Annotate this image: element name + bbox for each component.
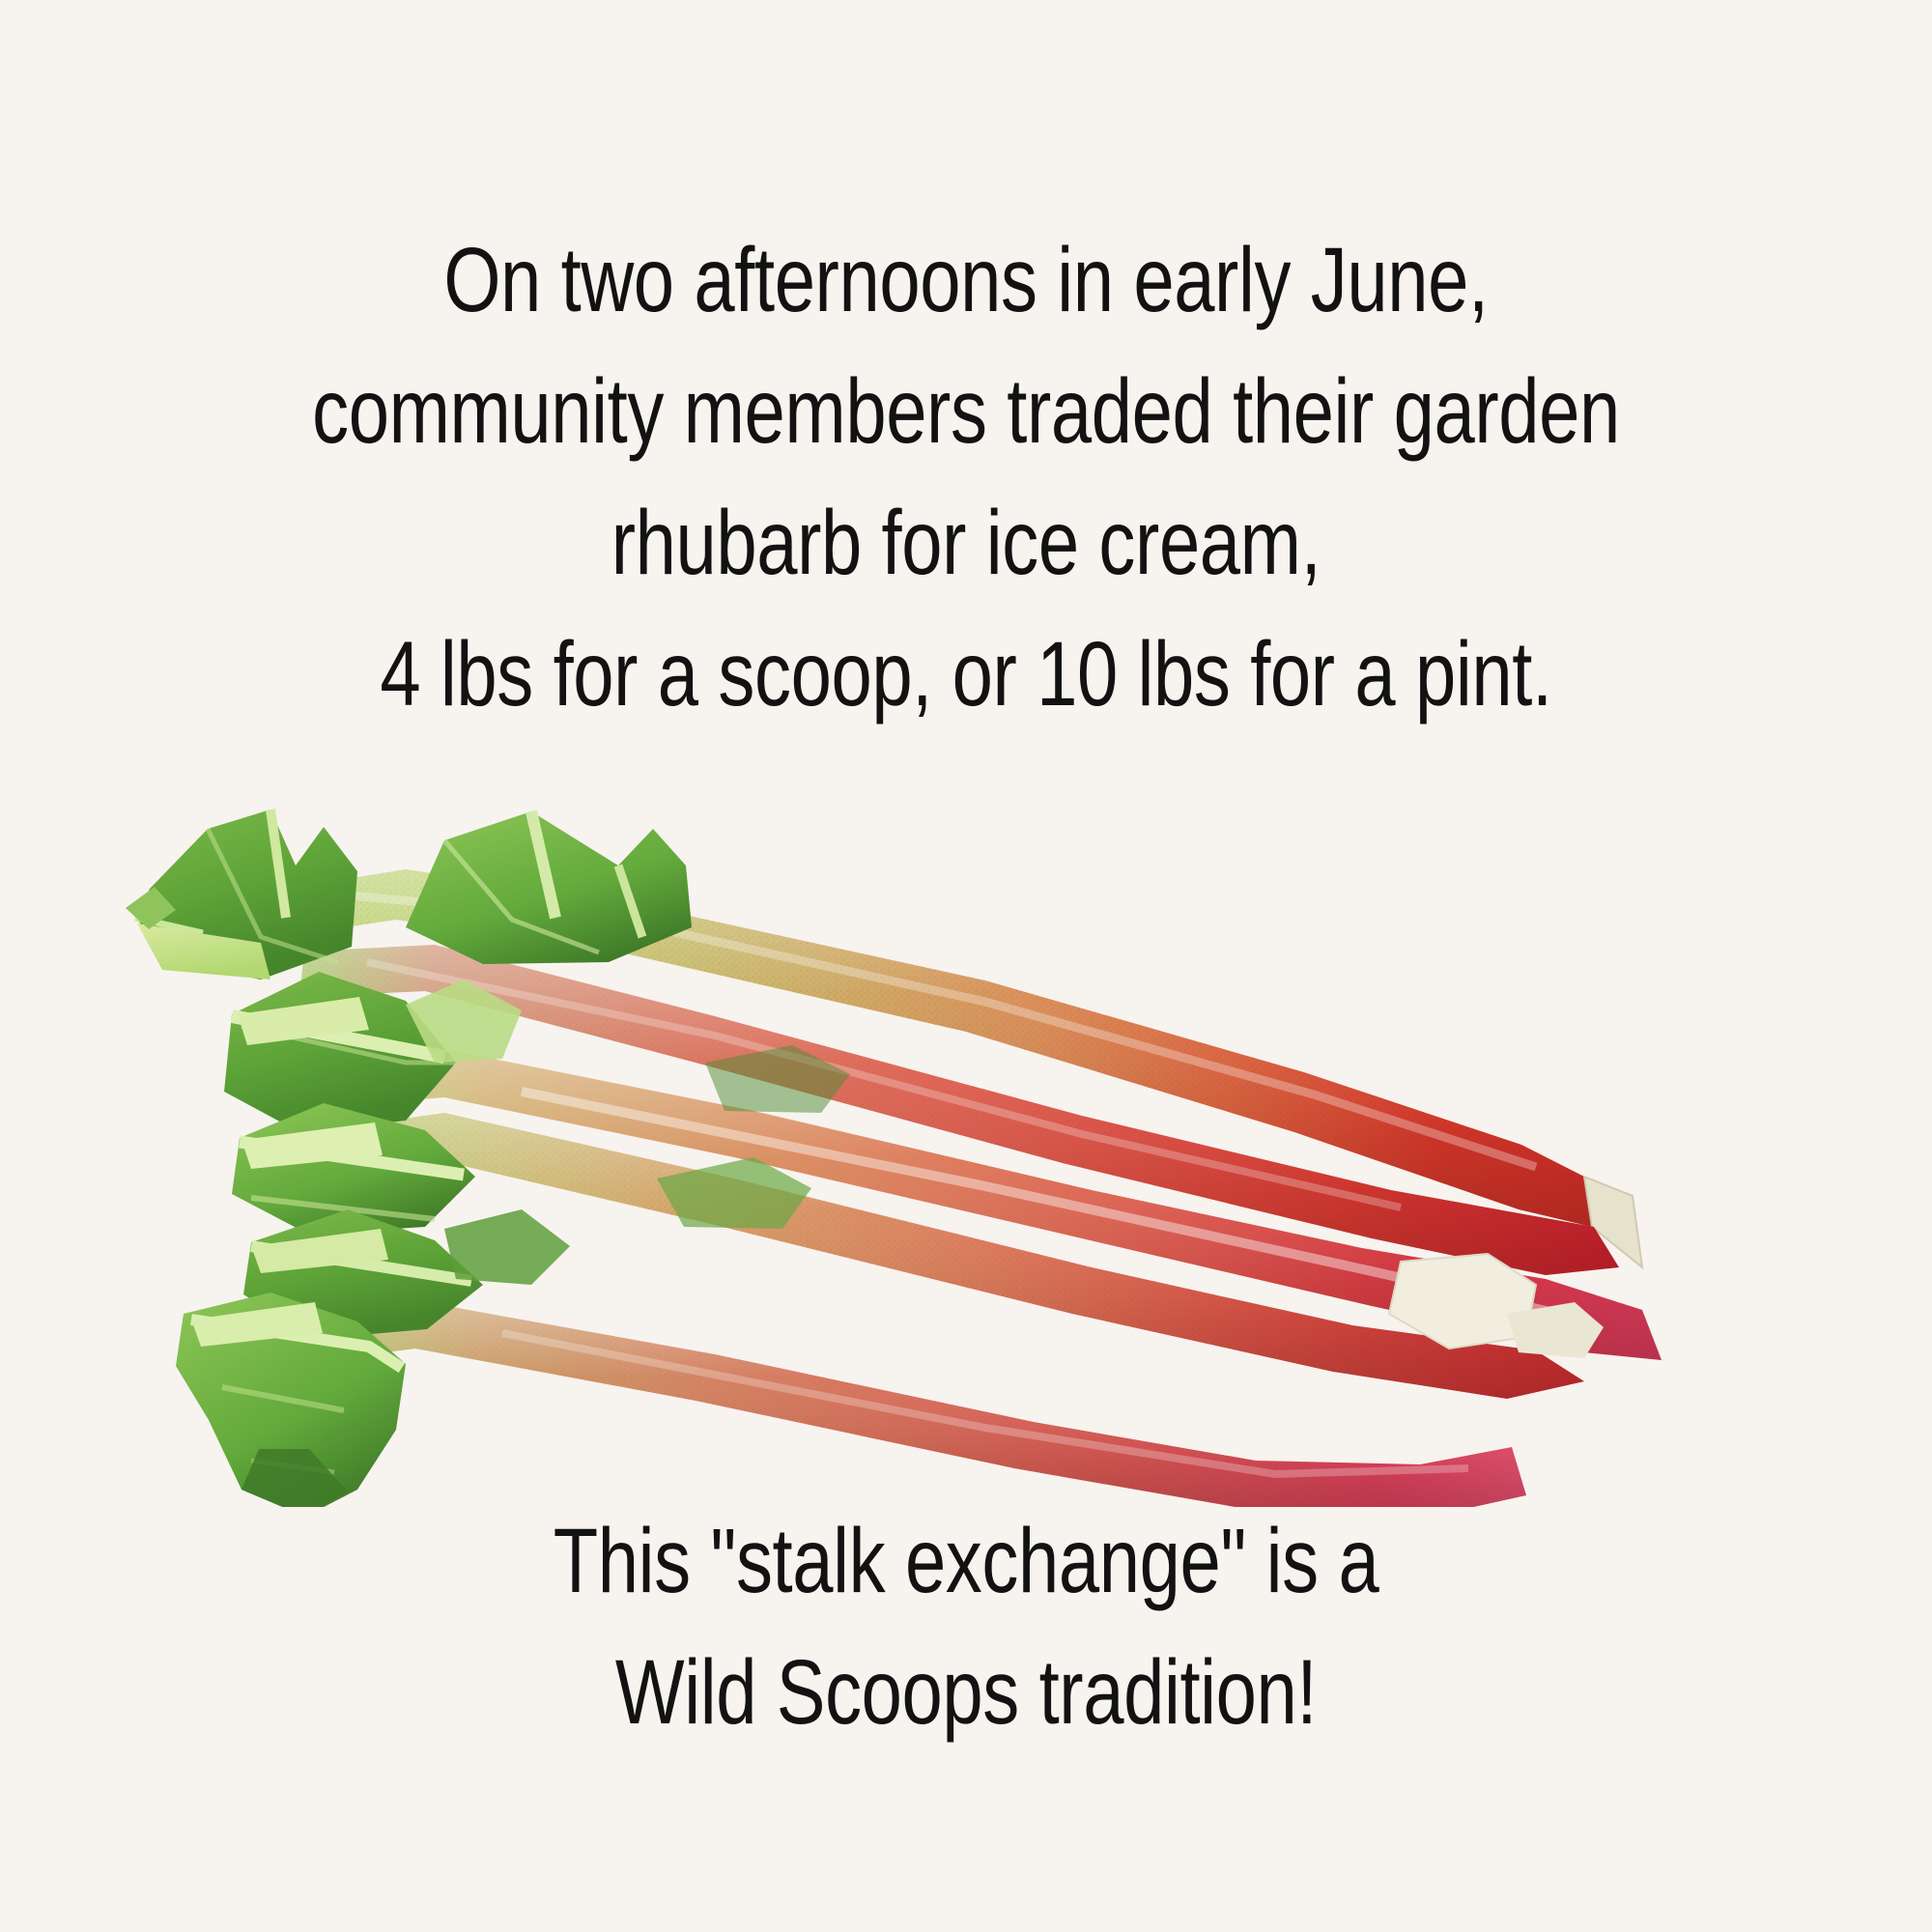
bottom-text-line-2: Wild Scoops tradition!	[193, 1627, 1739, 1758]
bottom-text-line-1: This "stalk exchange" is a	[193, 1495, 1739, 1627]
top-text-line-4: 4 lbs for a scoop, or 10 lbs for a pint.	[193, 609, 1739, 740]
top-text-line-2: community members traded their garden	[193, 346, 1739, 477]
top-text-line-3: rhubarb for ice cream,	[193, 477, 1739, 609]
top-text-line-1: On two afternoons in early June,	[193, 214, 1739, 346]
top-text-block: On two afternoons in early June, communi…	[193, 214, 1739, 740]
bottom-text-block: This "stalk exchange" is a Wild Scoops t…	[193, 1495, 1739, 1758]
poster-canvas: On two afternoons in early June, communi…	[0, 0, 1932, 1932]
rhubarb-illustration	[116, 773, 1816, 1507]
rhubarb-stalks-photo	[116, 773, 1816, 1507]
